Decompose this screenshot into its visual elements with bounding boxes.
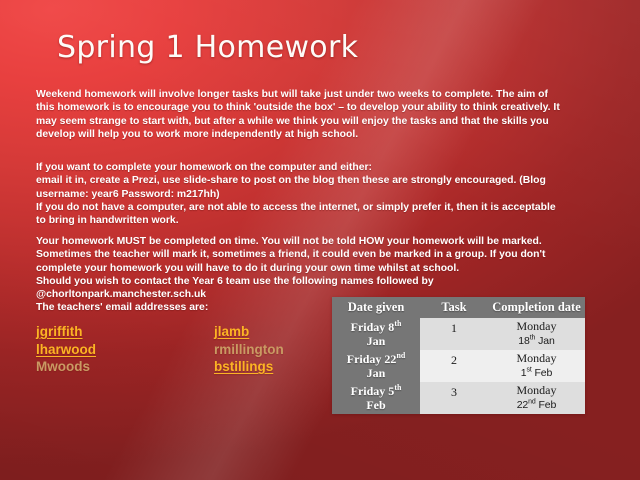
date-month: Jan	[367, 334, 386, 348]
table-header-row: Date given Task Completion date	[332, 297, 585, 318]
presentation-slide: Spring 1 Homework Weekend homework will …	[0, 0, 640, 480]
date-ordinal-suffix: th	[394, 383, 401, 392]
page-title: Spring 1 Homework	[57, 30, 358, 65]
date-month: Jan	[367, 366, 386, 380]
email-name-row: Mwoods bstillings	[36, 358, 326, 376]
email-name-row: jgriffith jlamb	[36, 323, 326, 341]
paragraph-line: username: year6 Password: m217hh)	[36, 188, 602, 201]
completion-ordinal-suffix: nd	[528, 399, 536, 406]
paragraph-line: Your homework MUST be completed on time.…	[36, 235, 602, 248]
cell-date-given: Friday 5th Feb	[332, 382, 420, 414]
email-name-row: lharwood rmillington	[36, 341, 326, 359]
completion-weekday: Monday	[491, 351, 582, 366]
cell-completion-date: Monday 1st Feb	[488, 350, 585, 382]
paragraph-line: this homework is to encourage you to thi…	[36, 101, 602, 114]
table-row: Friday 5th Feb 3 Monday 22nd Feb	[332, 382, 585, 414]
paragraph-line: complete your homework you will have to …	[36, 262, 602, 275]
date-day: Friday 22	[347, 352, 397, 366]
paragraph-line: If you want to complete your homework on…	[36, 161, 602, 174]
table-row: Friday 8th Jan 1 Monday 18th Jan	[332, 318, 585, 350]
completion-date-value: 22nd Feb	[491, 398, 582, 413]
email-name-text-rmillington: rmillington	[214, 342, 284, 357]
teacher-email-name-list: jgriffith jlamb lharwood rmillington Mwo…	[36, 323, 326, 376]
date-ordinal-suffix: th	[394, 319, 401, 328]
completion-date-value: 18th Jan	[491, 334, 582, 349]
email-name-cell: bstillings	[214, 358, 273, 376]
paragraph-line: develop will help you to work more indep…	[36, 128, 602, 141]
completion-weekday: Monday	[491, 383, 582, 398]
completion-weekday: Monday	[491, 319, 582, 334]
completion-day-number: 22	[517, 399, 528, 411]
column-header-task: Task	[420, 297, 488, 318]
column-header-completion-date: Completion date	[488, 297, 585, 318]
email-name-cell: Mwoods	[36, 358, 214, 376]
completion-day-number: 18	[518, 335, 529, 347]
email-name-cell: lharwood	[36, 341, 214, 359]
cell-task-number: 1	[420, 318, 488, 350]
date-day: Friday 8	[351, 320, 395, 334]
paragraph-submission-options: If you want to complete your homework on…	[36, 161, 602, 227]
email-name-cell: jlamb	[214, 323, 249, 341]
completion-month: Feb	[532, 367, 553, 379]
date-ordinal-suffix: nd	[396, 351, 405, 360]
cell-task-number: 2	[420, 350, 488, 382]
email-name-text-mwoods: Mwoods	[36, 359, 90, 374]
completion-date-value: 1st Feb	[491, 366, 582, 381]
date-month: Feb	[366, 398, 385, 412]
column-header-date-given: Date given	[332, 297, 420, 318]
email-name-cell: rmillington	[214, 341, 284, 359]
date-day: Friday 5	[351, 384, 395, 398]
cell-date-given: Friday 8th Jan	[332, 318, 420, 350]
paragraph-line: If you do not have a computer, are not a…	[36, 201, 602, 214]
completion-month: Jan	[535, 335, 554, 347]
paragraph-line: Sometimes the teacher will mark it, some…	[36, 248, 602, 261]
paragraph-line: email it in, create a Prezi, use slide-s…	[36, 174, 602, 187]
email-name-link-bstillings[interactable]: bstillings	[214, 359, 273, 374]
email-name-link-jgriffith[interactable]: jgriffith	[36, 324, 83, 339]
paragraph-line: to bring in handwritten work.	[36, 214, 602, 227]
homework-schedule-table: Date given Task Completion date Friday 8…	[332, 297, 585, 414]
email-name-cell: jgriffith	[36, 323, 214, 341]
cell-completion-date: Monday 18th Jan	[488, 318, 585, 350]
table-row: Friday 22nd Jan 2 Monday 1st Feb	[332, 350, 585, 382]
cell-task-number: 3	[420, 382, 488, 414]
paragraph-line: Weekend homework will involve longer tas…	[36, 88, 602, 101]
email-name-link-jlamb[interactable]: jlamb	[214, 324, 249, 339]
paragraph-intro: Weekend homework will involve longer tas…	[36, 88, 602, 141]
cell-date-given: Friday 22nd Jan	[332, 350, 420, 382]
cell-completion-date: Monday 22nd Feb	[488, 382, 585, 414]
paragraph-line: Should you wish to contact the Year 6 te…	[36, 275, 602, 288]
email-name-link-lharwood[interactable]: lharwood	[36, 342, 96, 357]
paragraph-line: may seem strange to start with, but afte…	[36, 115, 602, 128]
completion-month: Feb	[536, 399, 557, 411]
